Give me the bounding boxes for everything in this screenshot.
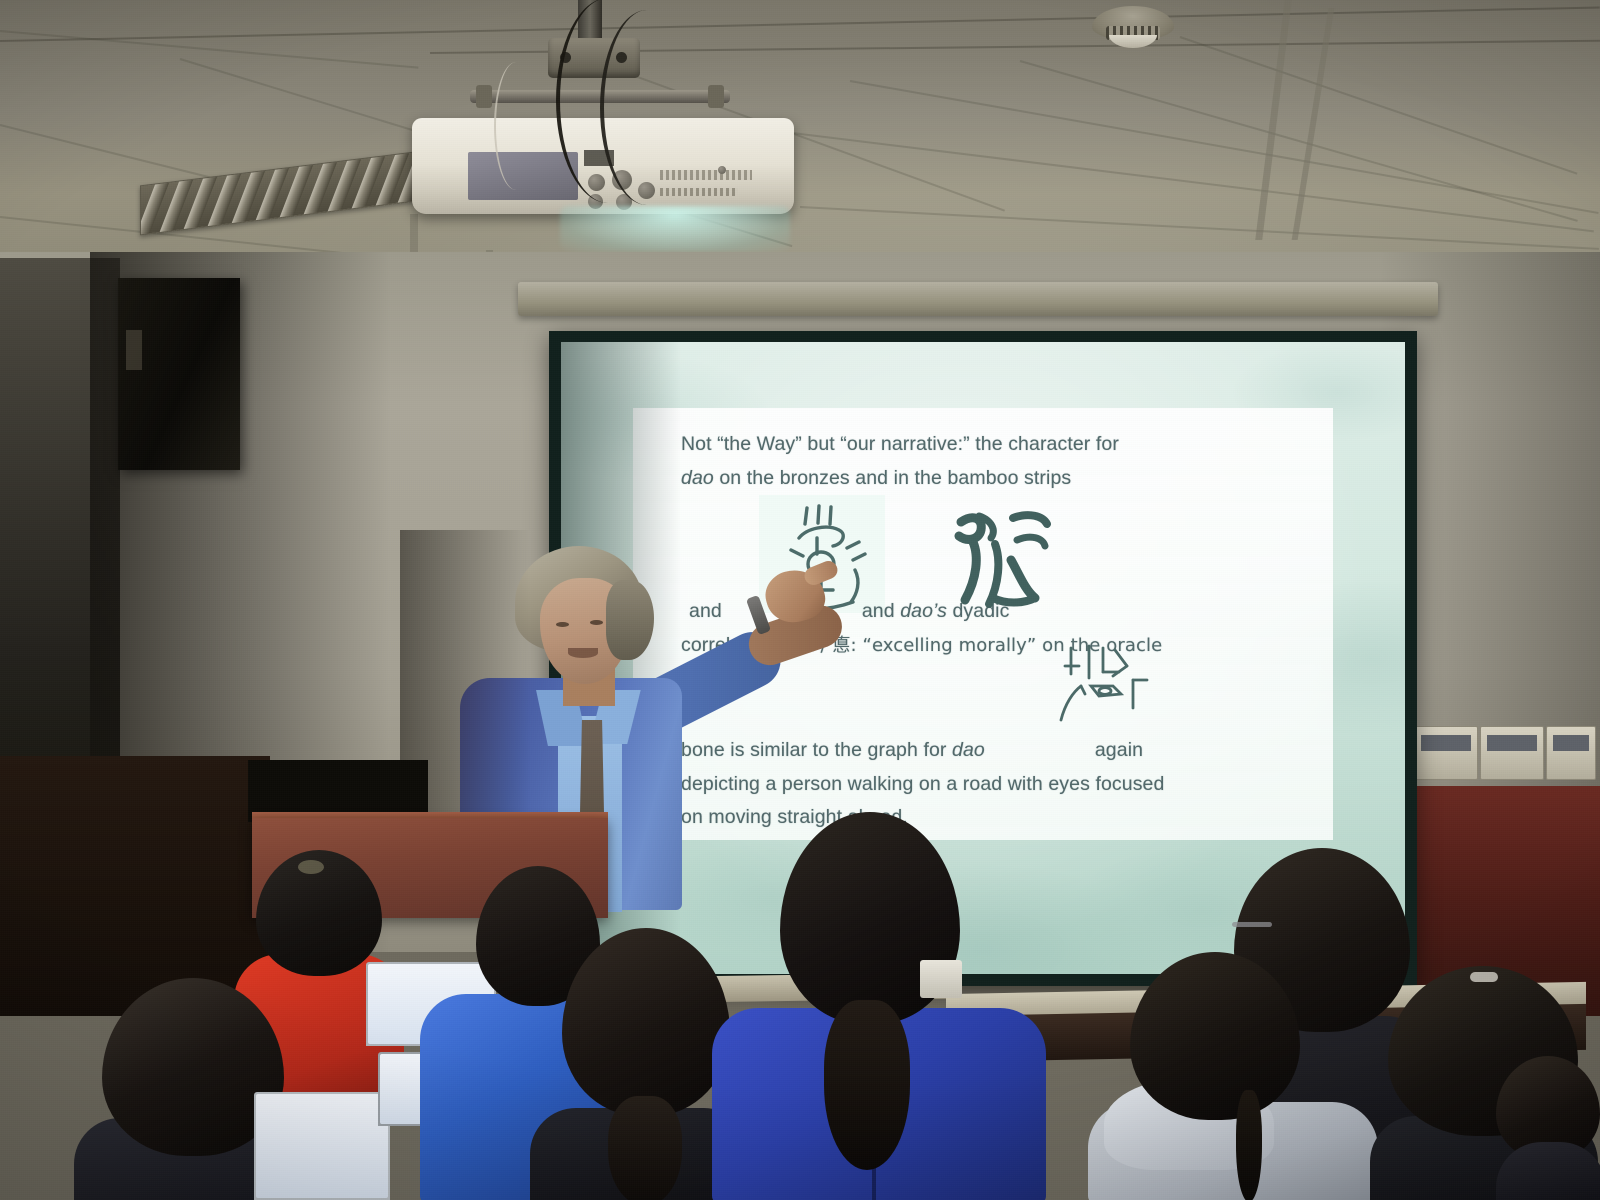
ceiling: [0, 0, 1600, 278]
slide-line-2-italic-dao: dao: [681, 467, 714, 489]
slide-line-2-rest: on the bronzes and in the bamboo strips: [714, 467, 1071, 489]
control-panel-window: [1421, 735, 1471, 751]
student-blue-denim-jacket: [712, 812, 1052, 1200]
student-gray-hoodie: [1088, 952, 1388, 1200]
projector-lens-glow: [560, 206, 790, 252]
presenter-eye-left: [556, 622, 569, 627]
coffee-mug[interactable]: [920, 960, 962, 998]
control-panel-window: [1553, 735, 1589, 751]
screen-valance-housing: [518, 282, 1438, 316]
control-panel-window: [1487, 735, 1537, 751]
presenter-hair-side: [606, 580, 654, 660]
oracle-bone-dao-glyph: [1055, 642, 1159, 728]
student-far-right-edge: [1496, 1056, 1600, 1200]
lecture-hall-photo: Not “the Way” but “our narrative:” the c…: [0, 0, 1600, 1200]
mount-arm-nub: [476, 85, 492, 108]
slide-line-5-again: again: [1095, 739, 1143, 761]
student-head: [562, 928, 730, 1116]
wall-speaker: [118, 278, 240, 470]
hair-tie: [1470, 972, 1498, 982]
smoke-detector: [1092, 6, 1174, 52]
student-head: [1130, 952, 1300, 1120]
slide-line-2: dao on the bronzes and in the bamboo str…: [681, 462, 1301, 496]
presenter-eye-right: [590, 620, 603, 625]
eyeglasses-temple: [1232, 922, 1272, 927]
wall-control-panel-2[interactable]: [1480, 726, 1544, 780]
student-hair-highlight: [298, 860, 324, 874]
wall-control-panel-3[interactable]: [1546, 726, 1596, 780]
presenter-mouth: [568, 648, 598, 658]
student-body: [1496, 1142, 1600, 1200]
student-ponytail: [824, 1000, 910, 1170]
projector-power-cord: [494, 62, 538, 190]
bamboo-strip-dao-glyph: [939, 494, 1063, 614]
student-ponytail: [608, 1096, 682, 1200]
slide-line-1: Not “the Way” but “our narrative:” the c…: [681, 428, 1301, 462]
student-hair-strand: [1236, 1090, 1262, 1200]
wall-speaker-bracket: [126, 330, 142, 370]
mount-arm-nub: [708, 85, 724, 108]
projector-indicator-led: [718, 166, 726, 174]
slide-line-5-italic-dao: dao: [952, 739, 985, 761]
wall-control-panel-1[interactable]: [1414, 726, 1478, 780]
laptop-screen: [256, 1094, 388, 1198]
laptop-front-left[interactable]: [254, 1092, 390, 1200]
smoke-detector-cap: [1109, 35, 1157, 48]
projector-cable: [600, 10, 694, 205]
